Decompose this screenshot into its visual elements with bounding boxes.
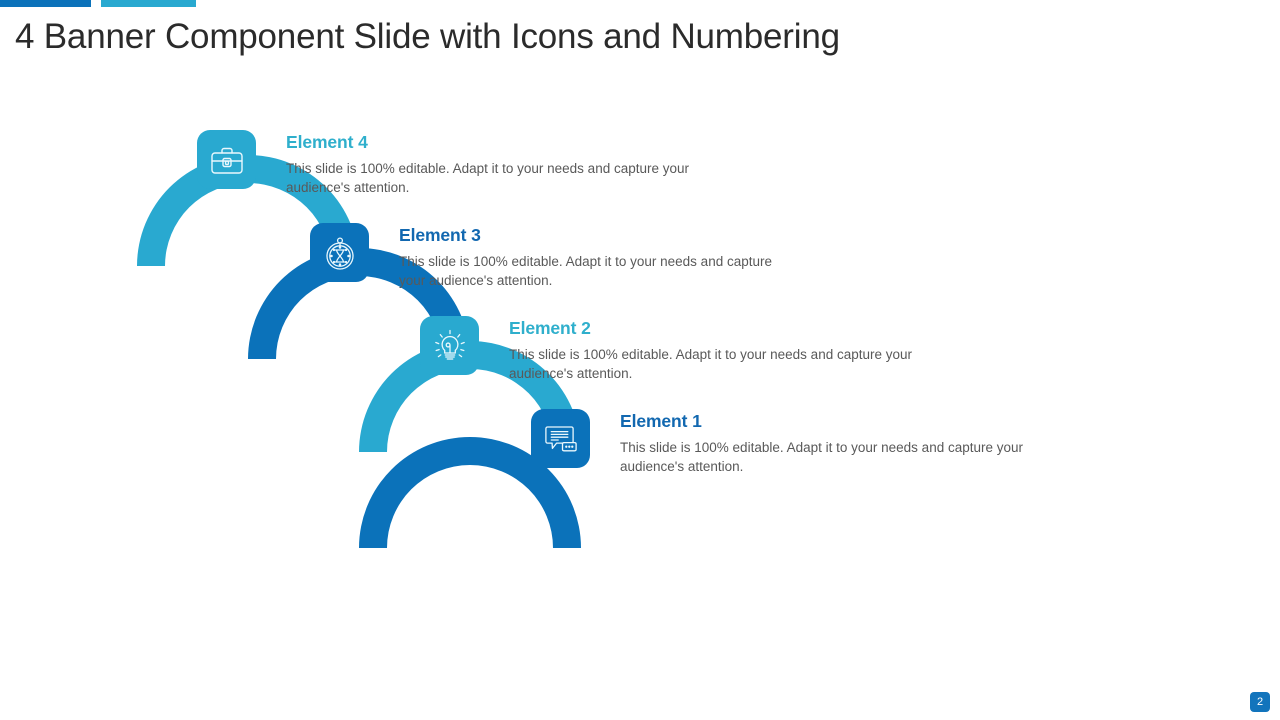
element-2-heading: Element 2 <box>509 318 912 339</box>
element-2-body-line-1: This slide is 100% editable. Adapt it to… <box>509 345 912 364</box>
element-row-3[interactable]: Element 3 This slide is 100% editable. A… <box>310 223 772 290</box>
element-4-body: This slide is 100% editable. Adapt it to… <box>286 159 689 197</box>
element-4-body-line-1: This slide is 100% editable. Adapt it to… <box>286 159 689 178</box>
element-1-body-line-2: audience's attention. <box>620 457 1023 476</box>
briefcase-icon-tile[interactable] <box>197 130 256 189</box>
stopwatch-icon-tile[interactable] <box>310 223 369 282</box>
element-4-body-line-2: audience's attention. <box>286 178 689 197</box>
briefcase-icon <box>208 141 246 179</box>
element-row-2[interactable]: Element 2 This slide is 100% editable. A… <box>420 316 912 383</box>
element-row-4[interactable]: Element 4 This slide is 100% editable. A… <box>197 130 689 197</box>
element-4-heading: Element 4 <box>286 132 689 153</box>
element-1-text-block: Element 1 This slide is 100% editable. A… <box>620 409 1023 476</box>
element-4-text-block: Element 4 This slide is 100% editable. A… <box>286 130 689 197</box>
element-3-body-line-2: your audience's attention. <box>399 271 772 290</box>
element-3-heading: Element 3 <box>399 225 772 246</box>
element-1-heading: Element 1 <box>620 411 1023 432</box>
page-number-badge: 2 <box>1250 692 1270 712</box>
stopwatch-icon <box>321 234 359 272</box>
element-3-body: This slide is 100% editable. Adapt it to… <box>399 252 772 290</box>
element-3-text-block: Element 3 This slide is 100% editable. A… <box>399 223 772 290</box>
chat-bubble-icon-tile[interactable] <box>531 409 590 468</box>
element-2-body-line-2: audience's attention. <box>509 364 912 383</box>
element-3-body-line-1: This slide is 100% editable. Adapt it to… <box>399 252 772 271</box>
element-1-body-line-1: This slide is 100% editable. Adapt it to… <box>620 438 1023 457</box>
element-1-body: This slide is 100% editable. Adapt it to… <box>620 438 1023 476</box>
element-row-1[interactable]: Element 1 This slide is 100% editable. A… <box>531 409 1023 476</box>
lightbulb-icon-tile[interactable] <box>420 316 479 375</box>
chat-bubble-icon <box>542 420 580 458</box>
element-2-text-block: Element 2 This slide is 100% editable. A… <box>509 316 912 383</box>
element-2-body: This slide is 100% editable. Adapt it to… <box>509 345 912 383</box>
lightbulb-icon <box>431 327 469 365</box>
